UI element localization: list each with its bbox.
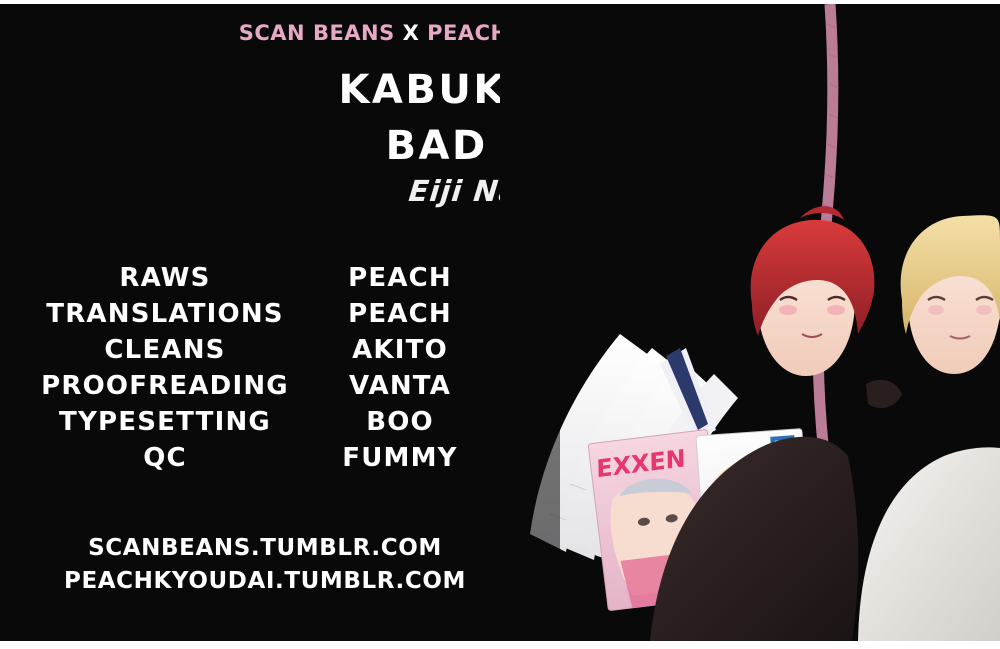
staff-role: CLEANS [104, 332, 225, 368]
staff-role: RAWS [119, 260, 210, 296]
staff-name: VANTA [349, 368, 451, 404]
credit-page: SCAN BEANS X PEACH KYOUDAI PRESENTS KABU… [0, 0, 1000, 649]
staff-name: BOO [366, 404, 434, 440]
staff-name: AKITO [352, 332, 448, 368]
scan-group-name: SCAN BEANS [239, 21, 395, 45]
links-block: SCANBEANS.TUMBLR.COM PEACHKYOUDAI.TUMBLR… [30, 532, 500, 598]
staff-credits: RAWS TRANSLATIONS CLEANS PROOFREADING TY… [30, 260, 500, 476]
staff-name: FUMMY [342, 440, 457, 476]
credit-card-background: SCAN BEANS X PEACH KYOUDAI PRESENTS KABU… [0, 4, 1000, 641]
link-scanbeans[interactable]: SCANBEANS.TUMBLR.COM [30, 532, 500, 565]
staff-role: TYPESETTING [59, 404, 271, 440]
staff-role: QC [143, 440, 187, 476]
staff-roles-column: RAWS TRANSLATIONS CLEANS PROOFREADING TY… [30, 260, 300, 476]
artwork-illustration: EXXEN 59 [500, 4, 1000, 641]
staff-name: PEACH [348, 260, 452, 296]
staff-name: PEACH [348, 296, 452, 332]
cover-artwork: EXXEN 59 [500, 4, 1000, 641]
staff-role: PROOFREADING [41, 368, 289, 404]
presents-x-separator: X [403, 21, 420, 45]
link-peachkyoudai[interactable]: PEACHKYOUDAI.TUMBLR.COM [30, 565, 500, 598]
staff-role: TRANSLATIONS [46, 296, 283, 332]
staff-names-column: PEACH PEACH AKITO VANTA BOO FUMMY [300, 260, 500, 476]
